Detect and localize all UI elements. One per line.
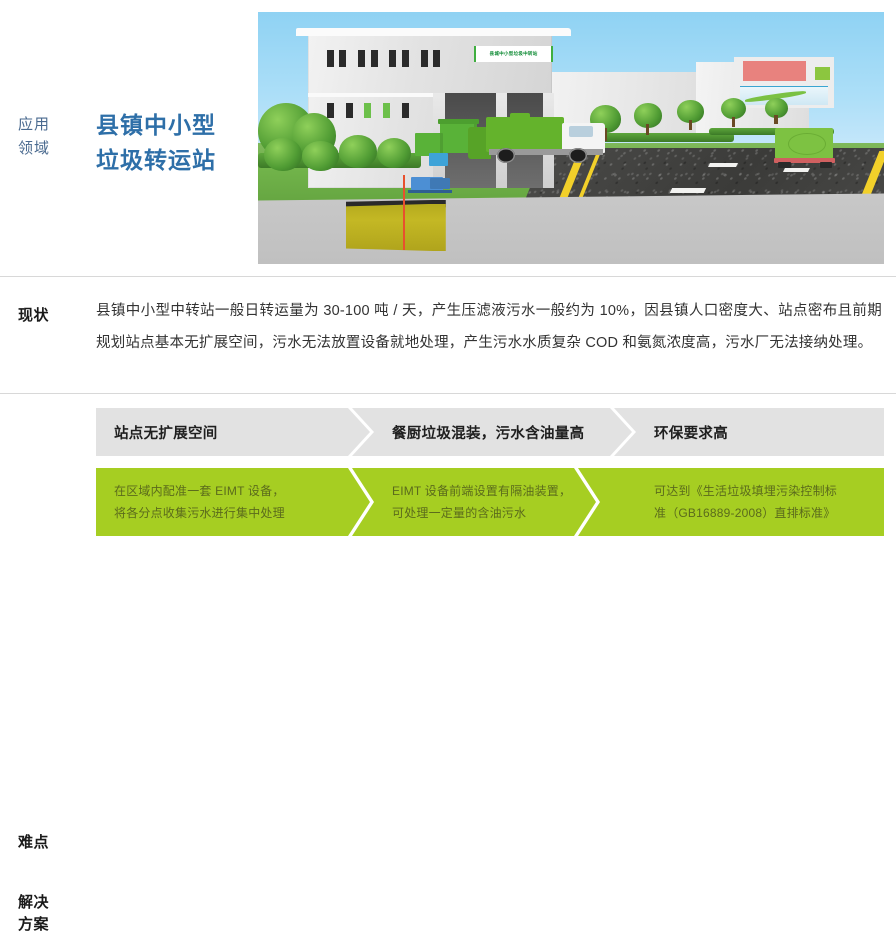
status-section: 现状 县镇中小型中转站一般日转运量为 30-100 吨 / 天，产生压滤液污水一…	[0, 277, 896, 393]
solution-item-1-text: 在区域内配准一套 EIMT 设备， 将各分点收集污水进行集中处理	[114, 480, 285, 524]
small-truck-wheel-right	[820, 162, 832, 168]
solution-item-3-line2: 准（GB16889-2008）直排标准》	[654, 502, 837, 524]
solution-item-3-line1: 可达到《生活垃圾填埋污染控制标	[654, 480, 837, 502]
building-window-l4	[383, 103, 390, 118]
application-field-title-line2: 垃圾转运站	[96, 143, 216, 178]
small-truck-rear-circle	[788, 133, 826, 155]
billboard-green-panel	[815, 67, 830, 80]
solution-item-2-line2: 可处理一定量的含油污水	[392, 502, 571, 524]
solution-label-line1: 解决	[18, 892, 49, 914]
solution-item-2-text: EIMT 设备前端设置有隔油装置， 可处理一定量的含油污水	[392, 480, 571, 524]
building-window-u3	[358, 50, 365, 68]
difficulty-band: 站点无扩展空间 餐厨垃圾混装，污水含油量高 环保要求高	[96, 408, 884, 456]
tree-trunk-10	[732, 117, 735, 127]
building-window-u2	[339, 50, 346, 68]
building-window-u1	[327, 50, 334, 68]
solution-item-3[interactable]: 可达到《生活垃圾填埋污染控制标 准（GB16889-2008）直排标准》	[620, 468, 884, 536]
difficulty-item-3-text: 环保要求高	[654, 422, 728, 443]
solution-label-line2: 方案	[18, 914, 49, 936]
tree-trunk-11	[774, 115, 777, 124]
building-window-l2	[346, 103, 353, 118]
building-window-u6	[402, 50, 409, 68]
building-window-l3	[364, 103, 371, 118]
status-text: 县镇中小型中转站一般日转运量为 30-100 吨 / 天，产生压滤液污水一般约为…	[96, 295, 882, 359]
truck-hopper-top	[510, 113, 530, 120]
lane-dash-1	[708, 163, 738, 167]
solution-item-1-line1: 在区域内配准一套 EIMT 设备，	[114, 480, 285, 502]
building-window-l5	[402, 103, 409, 118]
building-roof	[296, 28, 571, 36]
transfer-station-illustration: 县城中小型垃圾中转站	[258, 12, 884, 264]
garbage-compactor-truck	[465, 113, 628, 168]
building-window-u4	[371, 50, 378, 68]
building-sign-text: 县城中小型垃圾中转站	[490, 51, 538, 57]
difficulty-item-3[interactable]: 环保要求高	[620, 408, 884, 456]
building-window-u5	[389, 50, 396, 68]
solution-label: 解决 方案	[18, 892, 49, 936]
application-field-title: 县镇中小型 垃圾转运站	[96, 108, 216, 178]
truck-windshield	[569, 126, 593, 137]
building-window-u7	[421, 50, 428, 68]
application-field-label: 应用 领域	[18, 113, 50, 161]
small-truck-wheel-left	[778, 162, 790, 168]
solution-item-2-line1: EIMT 设备前端设置有隔油装置，	[392, 480, 571, 502]
application-field-label-line2: 领域	[18, 137, 50, 161]
small-green-truck	[771, 128, 840, 171]
application-field-label-line1: 应用	[18, 113, 50, 137]
building-window-l1	[327, 103, 334, 118]
solution-item-2[interactable]: EIMT 设备前端设置有隔油装置， 可处理一定量的含油污水	[358, 468, 620, 536]
tree-trunk-8	[646, 124, 649, 135]
pump-base	[408, 190, 452, 193]
underground-leachate-tank	[346, 204, 446, 252]
solution-item-3-text: 可达到《生活垃圾填埋污染控制标 准（GB16889-2008）直排标准》	[654, 480, 837, 524]
tree-5	[339, 135, 377, 168]
tree-3	[264, 138, 302, 171]
tree-6	[377, 138, 411, 168]
difficulty-item-1-text: 站点无扩展空间	[114, 422, 218, 443]
solution-item-1-line2: 将各分点收集污水进行集中处理	[114, 502, 285, 524]
difficulty-label: 难点	[18, 832, 49, 854]
pump-motor	[430, 178, 450, 190]
application-field-title-line1: 县镇中小型	[96, 108, 216, 143]
billboard-red-panel	[743, 61, 806, 81]
solution-item-1[interactable]: 在区域内配准一套 EIMT 设备， 将各分点收集污水进行集中处理	[96, 468, 358, 536]
blue-equipment-box	[429, 153, 448, 166]
building-sign: 县城中小型垃圾中转站	[474, 46, 553, 62]
building-window-u8	[433, 50, 440, 68]
truck-wheel-front	[569, 148, 587, 162]
status-label: 现状	[18, 305, 49, 327]
lane-dash-2	[670, 188, 707, 193]
tree-4	[302, 141, 340, 171]
truck-wheel-rear	[497, 148, 515, 162]
tree-trunk-9	[689, 120, 692, 130]
difficulty-solution-section: 难点 站点无扩展空间 餐厨垃圾混装，污水含油量高 环保要求高 解决 方案 在区域	[0, 394, 896, 536]
difficulty-item-1[interactable]: 站点无扩展空间	[96, 408, 358, 456]
truck-hopper	[486, 117, 564, 151]
difficulty-item-2-text: 餐厨垃圾混装，污水含油量高	[392, 422, 584, 443]
difficulty-item-2[interactable]: 餐厨垃圾混装，污水含油量高	[358, 408, 620, 456]
leachate-pipe	[403, 175, 405, 251]
solution-band: 在区域内配准一套 EIMT 设备， 将各分点收集污水进行集中处理 EIMT 设备…	[96, 468, 884, 536]
application-field-section: 应用 领域 县镇中小型 垃圾转运站	[0, 0, 896, 276]
